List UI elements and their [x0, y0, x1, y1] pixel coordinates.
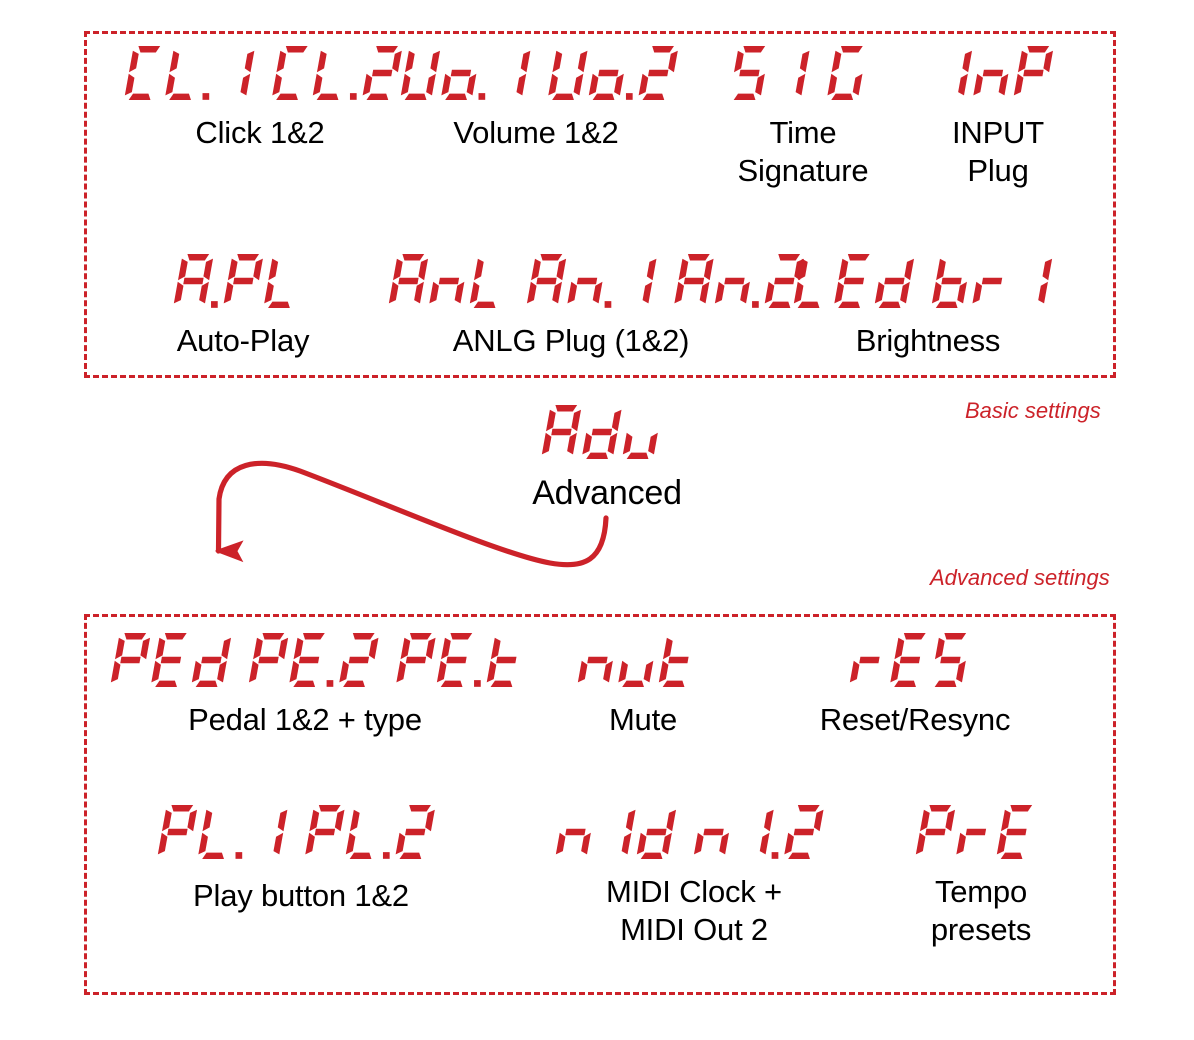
setting-play-button[interactable]: Play button 1&2 [104, 805, 498, 915]
led-display-anlg-plug [388, 254, 754, 312]
caption-led-brightness: Brightness [782, 322, 1074, 360]
caption-anlg-plug: ANLG Plug (1&2) [388, 322, 754, 360]
caption-time-signature: Time Signature [690, 114, 916, 190]
diagram-canvas: Click 1&2 Volume 1&2 Time Signature INPU… [0, 0, 1194, 1040]
caption-midi: MIDI Clock + MIDI Out 2 [530, 873, 858, 949]
setting-auto-play[interactable]: Auto-Play [114, 254, 372, 360]
section-tag-basic: Basic settings [965, 398, 1101, 424]
led-display-pedal [110, 633, 500, 691]
setting-led-brightness[interactable]: Brightness [782, 254, 1074, 360]
caption-tempo-presets: Tempo presets [872, 873, 1090, 949]
setting-click[interactable]: Click 1&2 [124, 46, 396, 152]
curved-arrow-to-advanced [180, 455, 640, 600]
led-display-mute [540, 633, 746, 691]
setting-reset-resync[interactable]: Reset/Resync [758, 633, 1072, 739]
setting-pedal[interactable]: Pedal 1&2 + type [110, 633, 500, 739]
caption-mute: Mute [540, 701, 746, 739]
caption-volume: Volume 1&2 [400, 114, 672, 152]
led-display-volume [400, 46, 672, 104]
setting-tempo-presets[interactable]: Tempo presets [872, 805, 1090, 949]
setting-time-signature[interactable]: Time Signature [690, 46, 916, 190]
setting-volume[interactable]: Volume 1&2 [400, 46, 672, 152]
section-tag-advanced: Advanced settings [930, 565, 1110, 591]
caption-pedal: Pedal 1&2 + type [110, 701, 500, 739]
led-display-time-signature [690, 46, 916, 104]
setting-input-plug[interactable]: INPUT Plug [898, 46, 1098, 190]
caption-input-plug: INPUT Plug [898, 114, 1098, 190]
caption-reset-resync: Reset/Resync [758, 701, 1072, 739]
led-display-auto-play [114, 254, 372, 312]
caption-click: Click 1&2 [124, 114, 396, 152]
led-display-play-button [104, 805, 498, 863]
caption-play-button: Play button 1&2 [104, 877, 498, 915]
setting-anlg-plug[interactable]: ANLG Plug (1&2) [388, 254, 754, 360]
led-display-tempo-presets [872, 805, 1090, 863]
led-display-led-brightness [782, 254, 1074, 312]
setting-midi[interactable]: MIDI Clock + MIDI Out 2 [530, 805, 858, 949]
led-display-midi [530, 805, 858, 863]
setting-mute[interactable]: Mute [540, 633, 746, 739]
led-display-input-plug [898, 46, 1098, 104]
led-display-click [124, 46, 396, 104]
caption-auto-play: Auto-Play [114, 322, 372, 360]
led-display-reset-resync [758, 633, 1072, 691]
